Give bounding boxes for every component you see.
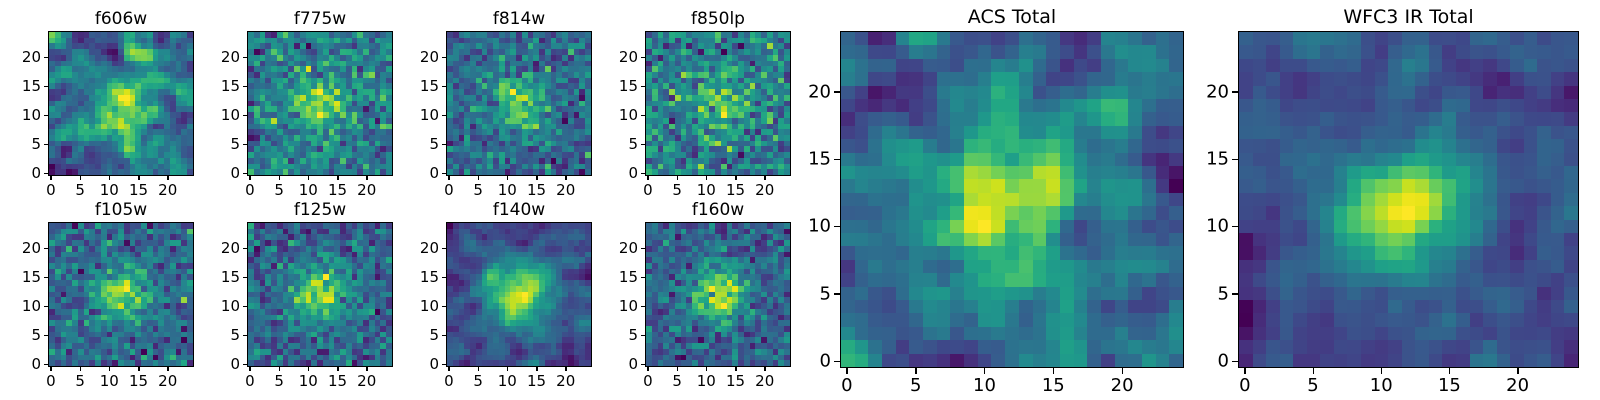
y-tick-label: 5 [429, 326, 439, 344]
x-tick [677, 367, 679, 371]
y-tick [641, 277, 645, 279]
heatmap-image [248, 223, 392, 366]
panel-f140w: f140w0510152005101520 [446, 222, 592, 367]
x-tick [80, 176, 82, 180]
y-tick [1232, 91, 1238, 93]
x-tick-label: 10 [498, 372, 517, 390]
y-tick-label: 0 [230, 164, 240, 182]
x-tick-label: 5 [910, 375, 921, 396]
y-tick-label: 15 [1206, 149, 1229, 170]
x-tick [915, 368, 917, 374]
x-tick-label: 20 [158, 181, 177, 199]
x-tick [337, 367, 339, 371]
y-tick [834, 159, 840, 161]
y-tick-label: 10 [1206, 216, 1229, 237]
y-tick [243, 277, 247, 279]
x-tick-label: 0 [444, 181, 454, 199]
x-tick [478, 367, 480, 371]
y-tick-label: 15 [619, 268, 638, 286]
x-tick-label: 10 [697, 181, 716, 199]
x-tick [1053, 368, 1055, 374]
x-tick-label: 0 [46, 181, 56, 199]
x-tick-label: 10 [973, 375, 996, 396]
x-tick [337, 176, 339, 180]
y-tick-label: 20 [420, 48, 439, 66]
panel-title: f105w [48, 200, 194, 220]
y-tick [1232, 159, 1238, 161]
y-tick-label: 15 [221, 77, 240, 95]
y-tick-label: 20 [22, 239, 41, 257]
x-tick [138, 367, 140, 371]
panel-title: f160w [645, 200, 791, 220]
y-tick-label: 20 [1206, 81, 1229, 102]
heatmap-image [646, 32, 790, 175]
y-tick-label: 0 [429, 164, 439, 182]
panel-title: f850lp [645, 9, 791, 29]
y-tick [442, 306, 446, 308]
x-tick [764, 367, 766, 371]
y-tick [243, 86, 247, 88]
x-tick-label: 20 [158, 372, 177, 390]
x-tick-label: 5 [274, 372, 284, 390]
x-tick [1449, 368, 1451, 374]
heatmap-axes [446, 31, 592, 176]
panel-acs-total: ACS Total0510152005101520 [840, 31, 1184, 368]
y-tick [243, 144, 247, 146]
y-tick [442, 57, 446, 59]
x-tick-label: 15 [328, 372, 347, 390]
figure-canvas: f606w0510152005101520f775w05101520051015… [0, 0, 1600, 400]
heatmap-axes [48, 222, 194, 367]
heatmap-axes [247, 31, 393, 176]
y-tick-label: 15 [420, 268, 439, 286]
x-tick-label: 10 [299, 181, 318, 199]
heatmap-axes [645, 222, 791, 367]
x-tick-label: 0 [46, 372, 56, 390]
x-tick [279, 367, 281, 371]
x-tick-label: 20 [1506, 375, 1529, 396]
y-tick-label: 10 [619, 106, 638, 124]
y-tick [44, 173, 48, 175]
x-tick-label: 15 [1042, 375, 1065, 396]
y-tick-label: 5 [31, 135, 41, 153]
panel-title: WFC3 IR Total [1238, 6, 1579, 28]
panel-f125w: f125w0510152005101520 [247, 222, 393, 367]
x-tick [80, 367, 82, 371]
heatmap-image [646, 223, 790, 366]
panel-title: f140w [446, 200, 592, 220]
x-tick-label: 5 [672, 372, 682, 390]
x-tick-label: 10 [100, 181, 119, 199]
heatmap-axes [840, 31, 1184, 368]
x-tick [478, 176, 480, 180]
heatmap-image [841, 32, 1183, 367]
x-tick-label: 20 [357, 372, 376, 390]
x-tick-label: 10 [498, 181, 517, 199]
panel-f160w: f160w0510152005101520 [645, 222, 791, 367]
x-tick-label: 5 [473, 372, 483, 390]
x-tick [764, 176, 766, 180]
x-tick-label: 10 [100, 372, 119, 390]
y-tick-label: 10 [221, 297, 240, 315]
y-tick-label: 5 [230, 135, 240, 153]
panel-wfc3-ir-total: WFC3 IR Total0510152005101520 [1238, 31, 1579, 368]
x-tick [647, 176, 649, 180]
x-tick [1517, 368, 1519, 374]
y-tick [641, 144, 645, 146]
x-tick-label: 5 [75, 372, 85, 390]
y-tick-label: 15 [808, 149, 831, 170]
panel-f105w: f105w0510152005101520 [48, 222, 194, 367]
y-tick [44, 248, 48, 250]
y-tick-label: 0 [1218, 351, 1229, 372]
y-tick-label: 5 [31, 326, 41, 344]
y-tick [243, 335, 247, 337]
heatmap-image [49, 223, 193, 366]
x-tick [50, 176, 52, 180]
x-tick [308, 176, 310, 180]
y-tick [641, 173, 645, 175]
x-tick-label: 5 [1307, 375, 1318, 396]
y-tick [44, 306, 48, 308]
y-tick-label: 5 [628, 135, 638, 153]
panel-title: f125w [247, 200, 393, 220]
y-tick [641, 57, 645, 59]
x-tick [50, 367, 52, 371]
panel-f606w: f606w0510152005101520 [48, 31, 194, 176]
y-tick-label: 20 [619, 48, 638, 66]
x-tick-label: 5 [473, 181, 483, 199]
x-tick [536, 176, 538, 180]
y-tick [641, 335, 645, 337]
x-tick [366, 176, 368, 180]
x-tick-label: 10 [299, 372, 318, 390]
y-tick [834, 91, 840, 93]
x-tick [279, 176, 281, 180]
panel-f775w: f775w0510152005101520 [247, 31, 393, 176]
y-tick-label: 20 [808, 81, 831, 102]
x-tick-label: 15 [726, 372, 745, 390]
x-tick [507, 176, 509, 180]
y-tick-label: 15 [221, 268, 240, 286]
y-tick [243, 364, 247, 366]
y-tick [44, 115, 48, 117]
heatmap-axes [1238, 31, 1579, 368]
x-tick-label: 20 [357, 181, 376, 199]
y-tick [44, 364, 48, 366]
x-tick [308, 367, 310, 371]
x-tick [507, 367, 509, 371]
y-tick-label: 10 [22, 106, 41, 124]
y-tick [442, 364, 446, 366]
x-tick-label: 0 [245, 372, 255, 390]
x-tick-label: 20 [755, 181, 774, 199]
y-tick-label: 20 [22, 48, 41, 66]
y-tick [243, 57, 247, 59]
panel-f850lp: f850lp0510152005101520 [645, 31, 791, 176]
y-tick [44, 57, 48, 59]
x-tick-label: 5 [672, 181, 682, 199]
y-tick-label: 5 [628, 326, 638, 344]
y-tick [44, 144, 48, 146]
x-tick-label: 0 [643, 372, 653, 390]
y-tick [44, 277, 48, 279]
y-tick-label: 0 [429, 355, 439, 373]
panel-title: f775w [247, 9, 393, 29]
heatmap-image [248, 32, 392, 175]
y-tick-label: 0 [628, 355, 638, 373]
y-tick [243, 173, 247, 175]
x-tick-label: 10 [697, 372, 716, 390]
y-tick-label: 10 [221, 106, 240, 124]
y-tick [834, 293, 840, 295]
y-tick-label: 15 [22, 77, 41, 95]
x-tick-label: 15 [328, 181, 347, 199]
y-tick-label: 5 [429, 135, 439, 153]
x-tick-label: 0 [643, 181, 653, 199]
y-tick [1232, 361, 1238, 363]
x-tick-label: 0 [444, 372, 454, 390]
y-tick [442, 144, 446, 146]
y-tick-label: 10 [420, 297, 439, 315]
y-tick [243, 115, 247, 117]
y-tick-label: 5 [230, 326, 240, 344]
y-tick [641, 248, 645, 250]
x-tick [109, 176, 111, 180]
x-tick-label: 15 [527, 181, 546, 199]
y-tick [1232, 226, 1238, 228]
y-tick [834, 361, 840, 363]
x-tick [565, 367, 567, 371]
x-tick [735, 367, 737, 371]
heatmap-image [49, 32, 193, 175]
y-tick [641, 115, 645, 117]
y-tick-label: 5 [820, 283, 831, 304]
x-tick [984, 368, 986, 374]
panel-title: f606w [48, 9, 194, 29]
x-tick-label: 20 [556, 181, 575, 199]
x-tick [647, 367, 649, 371]
y-tick [442, 277, 446, 279]
y-tick [44, 86, 48, 88]
y-tick [641, 306, 645, 308]
x-tick [565, 176, 567, 180]
heatmap-axes [247, 222, 393, 367]
x-tick [1381, 368, 1383, 374]
y-tick-label: 10 [808, 216, 831, 237]
x-tick-label: 5 [274, 181, 284, 199]
y-tick-label: 0 [628, 164, 638, 182]
y-tick-label: 20 [221, 239, 240, 257]
x-tick [1122, 368, 1124, 374]
x-tick [1244, 368, 1246, 374]
x-tick-label: 15 [726, 181, 745, 199]
y-tick [442, 173, 446, 175]
x-tick [735, 176, 737, 180]
x-tick [167, 367, 169, 371]
x-tick [846, 368, 848, 374]
heatmap-axes [446, 222, 592, 367]
x-tick [448, 367, 450, 371]
heatmap-axes [48, 31, 194, 176]
x-tick [536, 367, 538, 371]
y-tick-label: 15 [22, 268, 41, 286]
x-tick [249, 176, 251, 180]
y-tick [442, 335, 446, 337]
x-tick-label: 0 [1239, 375, 1250, 396]
panel-title: ACS Total [840, 6, 1184, 28]
y-tick-label: 10 [420, 106, 439, 124]
y-tick-label: 20 [420, 239, 439, 257]
y-tick [641, 364, 645, 366]
y-tick-label: 15 [619, 77, 638, 95]
heatmap-image [447, 32, 591, 175]
heatmap-image [447, 223, 591, 366]
x-tick-label: 20 [556, 372, 575, 390]
y-tick-label: 10 [619, 297, 638, 315]
x-tick [677, 176, 679, 180]
panel-f814w: f814w0510152005101520 [446, 31, 592, 176]
y-tick-label: 20 [619, 239, 638, 257]
x-tick-label: 15 [527, 372, 546, 390]
x-tick [109, 367, 111, 371]
y-tick [442, 248, 446, 250]
y-tick [44, 335, 48, 337]
x-tick-label: 20 [755, 372, 774, 390]
y-tick [1232, 293, 1238, 295]
y-tick [442, 115, 446, 117]
y-tick [641, 86, 645, 88]
x-tick [706, 176, 708, 180]
x-tick [1313, 368, 1315, 374]
heatmap-image [1239, 32, 1578, 367]
y-tick-label: 0 [230, 355, 240, 373]
x-tick [138, 176, 140, 180]
y-tick-label: 0 [31, 164, 41, 182]
x-tick-label: 15 [129, 372, 148, 390]
x-tick-label: 15 [129, 181, 148, 199]
y-tick-label: 0 [31, 355, 41, 373]
x-tick-label: 20 [1111, 375, 1134, 396]
x-tick-label: 0 [245, 181, 255, 199]
x-tick-label: 10 [1370, 375, 1393, 396]
x-tick [706, 367, 708, 371]
y-tick-label: 10 [22, 297, 41, 315]
y-tick [243, 306, 247, 308]
panel-title: f814w [446, 9, 592, 29]
y-tick [243, 248, 247, 250]
x-tick-label: 15 [1438, 375, 1461, 396]
y-tick-label: 20 [221, 48, 240, 66]
x-tick [448, 176, 450, 180]
x-tick [167, 176, 169, 180]
y-tick-label: 5 [1218, 283, 1229, 304]
y-tick [834, 226, 840, 228]
y-tick [442, 86, 446, 88]
x-tick-label: 5 [75, 181, 85, 199]
x-tick-label: 0 [841, 375, 852, 396]
x-tick [249, 367, 251, 371]
y-tick-label: 15 [420, 77, 439, 95]
x-tick [366, 367, 368, 371]
y-tick-label: 0 [820, 351, 831, 372]
heatmap-axes [645, 31, 791, 176]
